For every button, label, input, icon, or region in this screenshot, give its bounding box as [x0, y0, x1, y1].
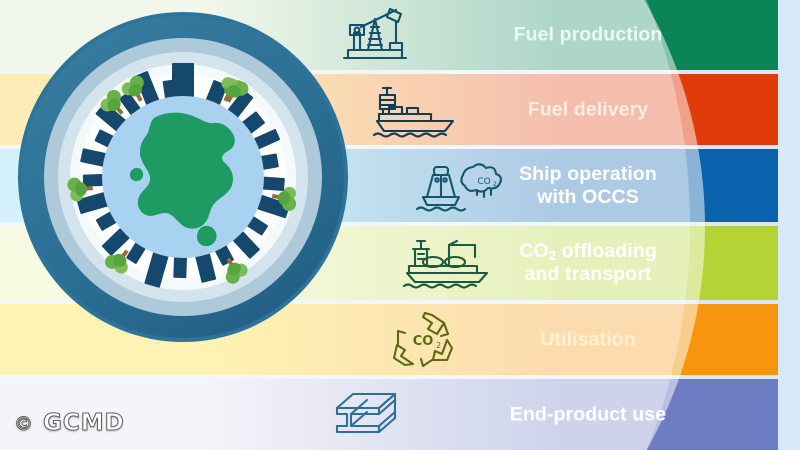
steel-i-beam-icon — [310, 383, 420, 447]
copyright-symbol: © — [14, 413, 34, 435]
watermark-gcmd: © GCMD — [14, 410, 125, 436]
earth-globe — [102, 96, 264, 258]
continents-shape — [102, 96, 264, 258]
watermark-text: GCMD — [43, 410, 125, 436]
band-label-end-product-use: End-product use — [438, 403, 738, 426]
globe-illustration — [18, 12, 348, 342]
svg-text:CO: CO — [413, 334, 434, 349]
infographic-canvas: Fuel productionFuel deliveryCO2Ship oper… — [0, 0, 800, 450]
band-label-ship-operation-with-occs: Ship operationwith OCCS — [438, 163, 738, 209]
band-label-fuel-delivery: Fuel delivery — [438, 98, 738, 121]
band-label-co2-offloading-and-transport: CO2 offloadingand transport — [438, 240, 738, 286]
tree — [268, 182, 300, 214]
skyline-building — [173, 257, 187, 278]
band-label-utilisation: Utilisation — [438, 328, 738, 351]
band-label-fuel-production: Fuel production — [438, 24, 738, 47]
tree — [65, 174, 95, 204]
